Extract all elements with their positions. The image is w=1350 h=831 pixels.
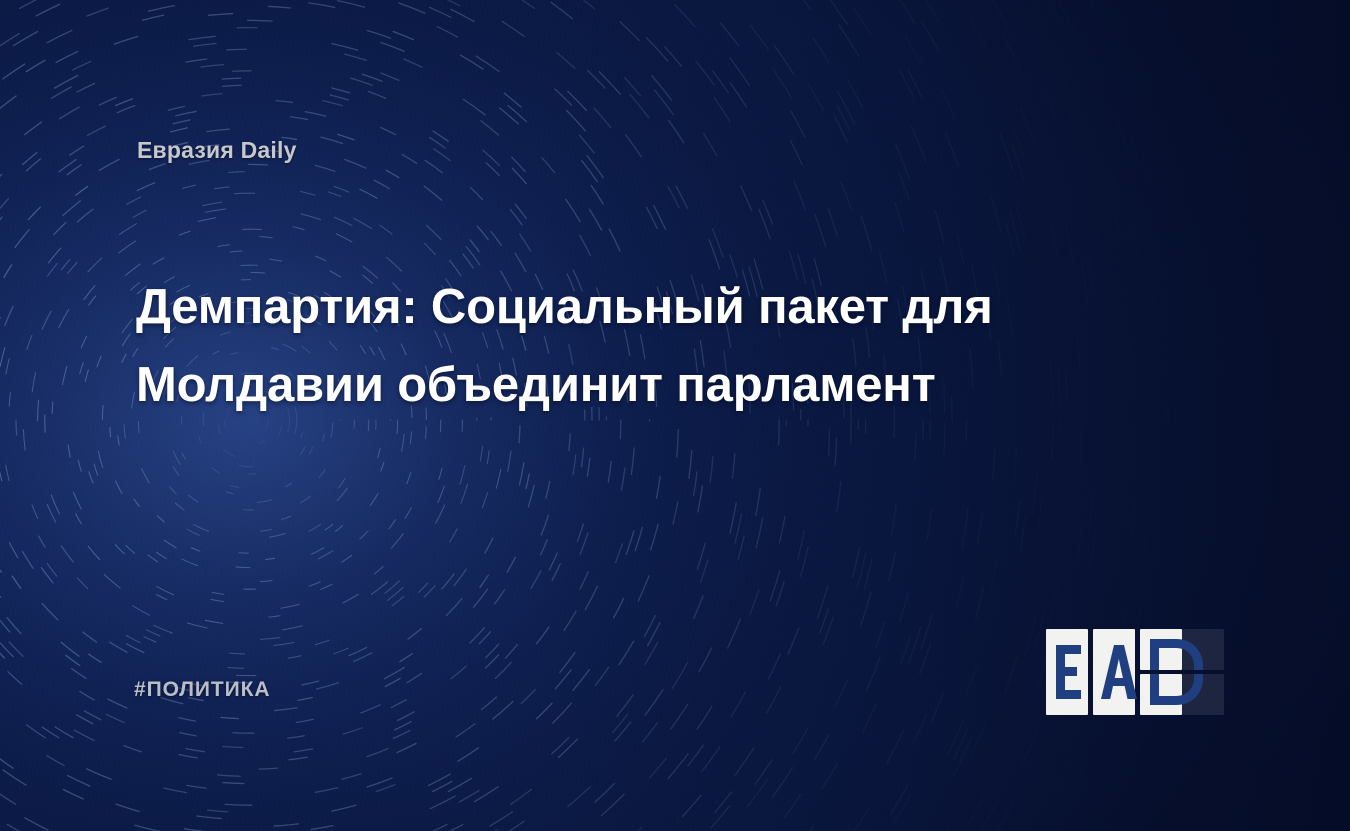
page-title: Демпартия: Социальный пакет для Молдавии… bbox=[136, 268, 1116, 424]
logo-tile-d-bottom bbox=[1140, 674, 1182, 715]
article-cover-image: Евразия Daily Демпартия: Социальный паке… bbox=[0, 0, 1350, 831]
eadaily-logo[interactable] bbox=[1046, 629, 1224, 715]
headline-line-1: Демпартия: Социальный пакет для bbox=[136, 268, 1116, 346]
logo-tile-d-top bbox=[1140, 629, 1182, 670]
brand-name: Евразия Daily bbox=[137, 137, 297, 164]
category-tag[interactable]: #ПОЛИТИКА bbox=[134, 678, 270, 702]
headline-line-2: Молдавии объединит парламент bbox=[136, 346, 1116, 424]
